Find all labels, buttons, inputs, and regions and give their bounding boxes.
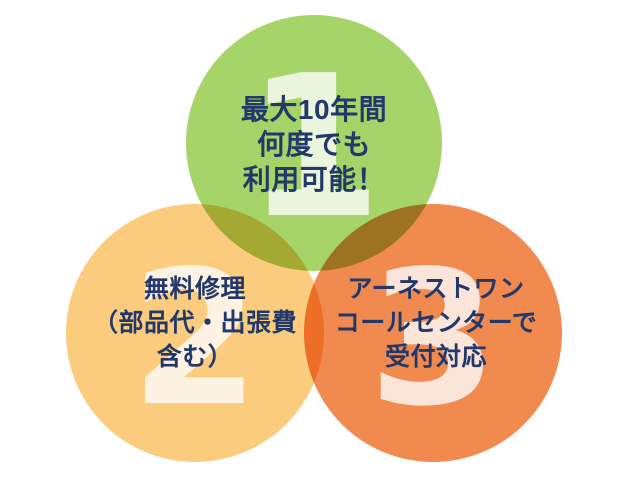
venn-diagram: 1 2 3 最大10年間 何度でも 利用可能！ 無料修理 （部品代・出張費 含む… [0,0,620,495]
caption-yellow-circle: 無料修理 （部品代・出張費 含む） [58,272,332,374]
caption-green-circle: 最大10年間 何度でも 利用可能！ [176,92,452,197]
caption-orange-circle: アーネストワン コールセンターで 受付対応 [300,272,572,374]
